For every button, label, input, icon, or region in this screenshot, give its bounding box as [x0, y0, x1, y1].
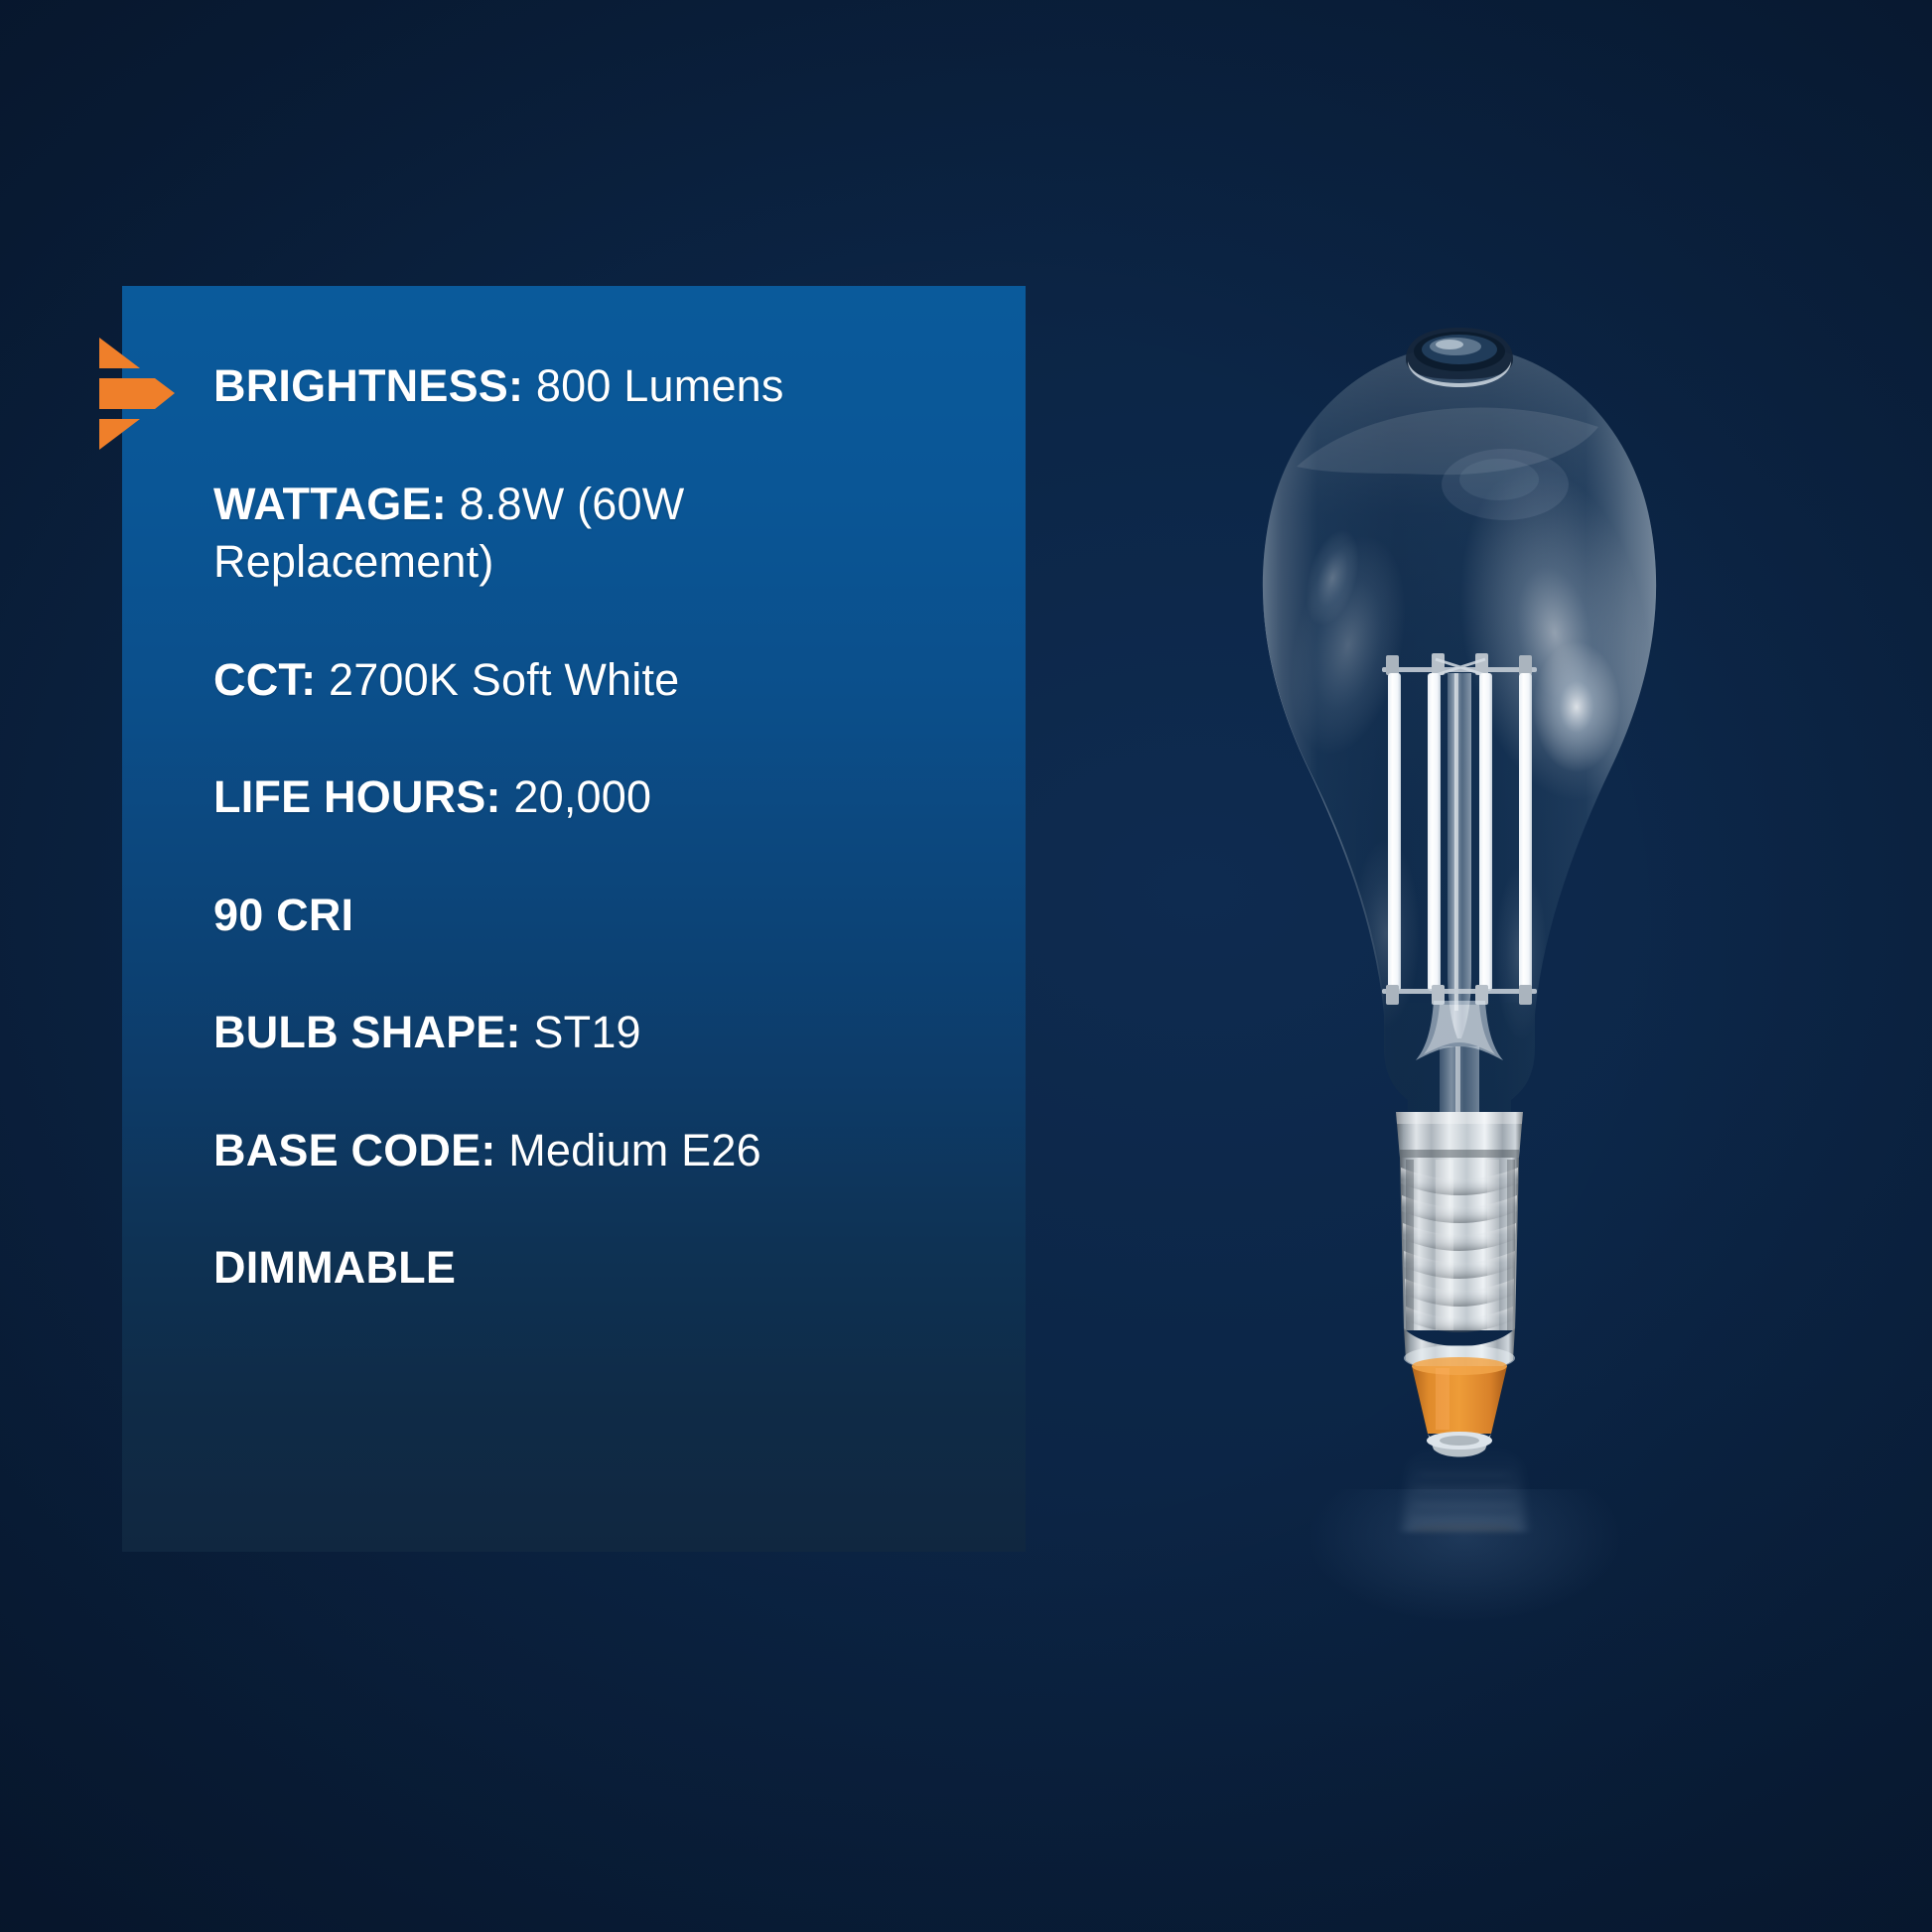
spec-value-bulb-shape: ST19	[521, 1007, 641, 1057]
spec-key-life-hours: LIFE HOURS:	[213, 771, 501, 822]
bulb-tip-nipple	[1406, 328, 1513, 387]
spec-item-cri: 90 CRI	[213, 887, 908, 945]
spec-item-base-code: BASE CODE: Medium E26	[213, 1122, 908, 1180]
spec-value-life-hours: 20,000	[501, 771, 652, 822]
spec-key-bulb-shape: BULB SHAPE:	[213, 1007, 521, 1057]
spec-key-brightness: BRIGHTNESS:	[213, 360, 523, 411]
bulb-base-insulator	[1412, 1366, 1507, 1434]
spec-item-bulb-shape: BULB SHAPE: ST19	[213, 1004, 908, 1062]
spec-list: BRIGHTNESS: 800 Lumens WATTAGE: 8.8W (60…	[122, 286, 1026, 1552]
spec-value-cct: 2700K Soft White	[316, 654, 679, 705]
spec-key-wattage: WATTAGE:	[213, 479, 447, 529]
spec-item-life-hours: LIFE HOURS: 20,000	[213, 768, 908, 827]
bulb-base-e26	[1396, 1112, 1523, 1457]
spec-key-base-code: BASE CODE:	[213, 1125, 496, 1175]
spec-value-brightness: 800 Lumens	[523, 360, 783, 411]
spec-item-brightness: BRIGHTNESS: 800 Lumens	[213, 357, 908, 416]
light-bulb-image	[1201, 318, 1718, 1628]
spec-item-wattage: WATTAGE: 8.8W (60W Replacement)	[213, 476, 908, 592]
spec-key-cct: CCT:	[213, 654, 316, 705]
product-spec-graphic: BRIGHTNESS: 800 Lumens WATTAGE: 8.8W (60…	[0, 0, 1932, 1932]
spec-panel: BRIGHTNESS: 800 Lumens WATTAGE: 8.8W (60…	[122, 286, 1026, 1552]
spec-item-dimmable: DIMMABLE	[213, 1239, 908, 1298]
triple-chevron-arrow-icon	[99, 338, 175, 467]
spec-value-base-code: Medium E26	[496, 1125, 761, 1175]
bulb-base-threads	[1400, 1158, 1519, 1332]
spec-item-cct: CCT: 2700K Soft White	[213, 651, 908, 710]
